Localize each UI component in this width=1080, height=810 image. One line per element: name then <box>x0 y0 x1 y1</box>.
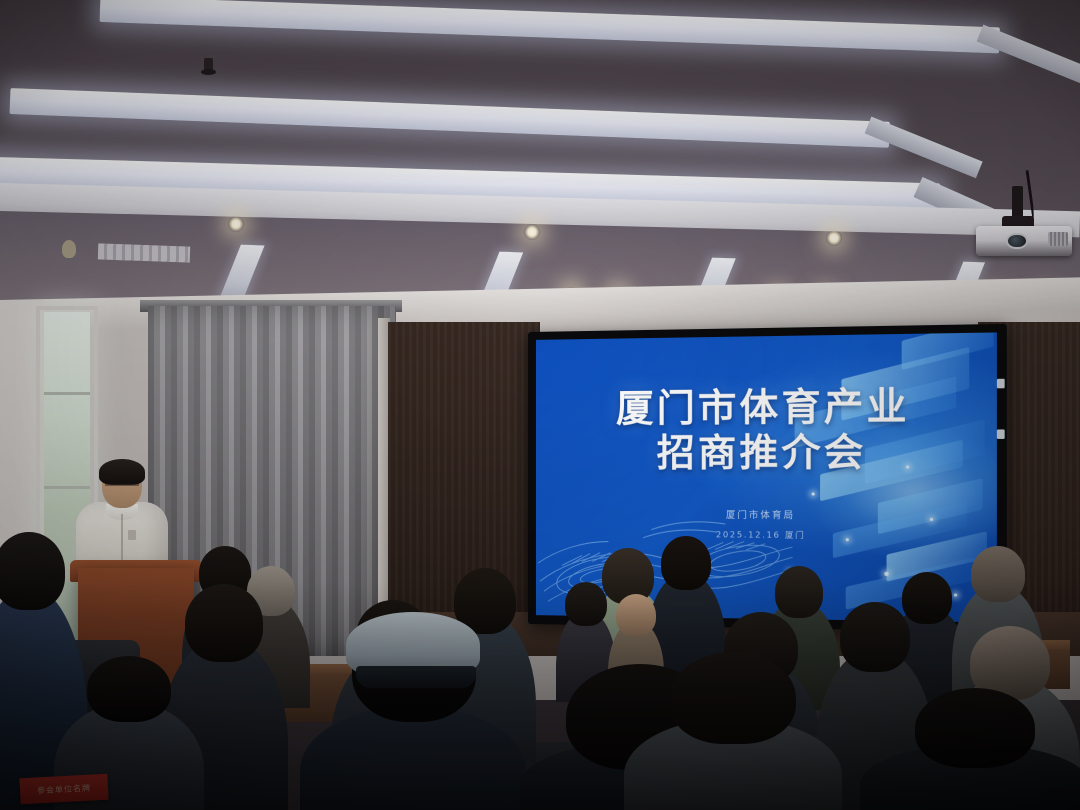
speaker-badge <box>128 530 136 540</box>
projector-icon <box>976 208 1072 260</box>
audience-head <box>87 656 171 722</box>
conference-hall-photo: 厦门市体育产业 招商推介会 厦门市体育局 2025.12.16 厦门 <box>0 0 1080 810</box>
audience-head <box>661 536 711 590</box>
light-strip-icon <box>100 0 1000 53</box>
cap-brim-icon <box>356 666 476 688</box>
projector-lens <box>1006 233 1028 249</box>
audience-head <box>915 688 1035 768</box>
light-strip-end-icon <box>977 25 1080 90</box>
sparkle-icon <box>954 593 957 596</box>
screen-title: 厦门市体育产业 招商推介会 <box>536 383 997 476</box>
projector-vent <box>1048 232 1068 246</box>
speaker-hair <box>99 459 145 485</box>
projector-mount-pole <box>1012 186 1023 220</box>
downlight-icon <box>524 224 540 240</box>
screen-title-line1: 厦门市体育产业 <box>616 384 910 431</box>
screen-organizer: 厦门市体育局 <box>726 511 795 522</box>
screen-sensor-icon <box>997 429 1005 439</box>
audience-head <box>840 602 910 672</box>
audience-head <box>0 532 65 610</box>
screen-sensor-icon <box>997 379 1005 389</box>
sparkle-icon <box>812 492 815 495</box>
name-placard-text: 参会单位名牌 <box>37 782 92 796</box>
sparkle-icon <box>884 572 888 576</box>
glasses-icon <box>105 484 139 491</box>
audience-head <box>902 572 952 624</box>
vent-icon <box>98 243 191 262</box>
audience-head <box>775 566 823 618</box>
light-strip-icon <box>10 88 890 148</box>
downlight-icon <box>826 230 842 246</box>
projector-cable <box>1025 170 1036 220</box>
audience-head <box>670 652 796 744</box>
sprinkler-icon <box>204 58 213 74</box>
name-placard: 参会单位名牌 <box>19 774 108 805</box>
audience-head <box>971 546 1025 602</box>
audience-head <box>565 582 607 626</box>
screen-subtitle: 厦门市体育局 2025.12.16 厦门 <box>536 508 997 544</box>
screen-title-line2: 招商推介会 <box>536 429 997 476</box>
audience-head <box>185 584 263 662</box>
ceiling-speaker-icon <box>62 240 76 258</box>
downlight-icon <box>228 216 244 232</box>
audience-head <box>616 594 656 636</box>
